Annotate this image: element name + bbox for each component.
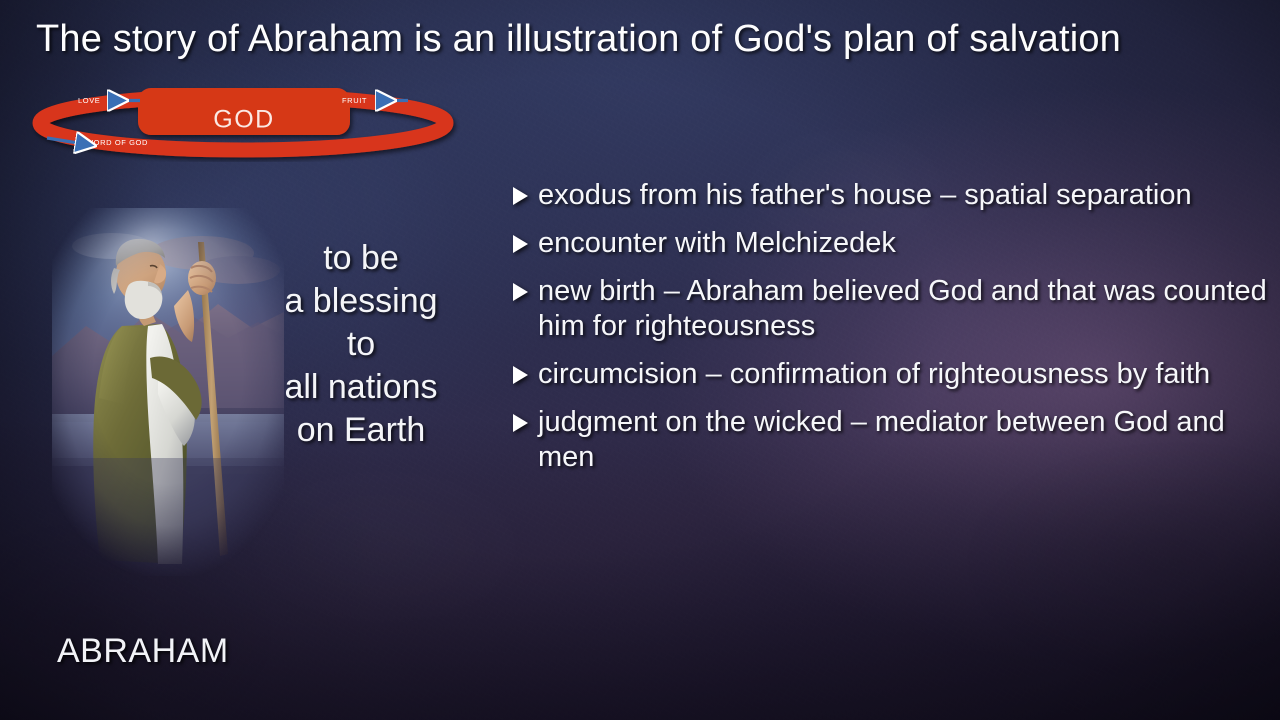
slide-caption: ABRAHAM [57,632,229,671]
bullet-text: encounter with Melchizedek [538,226,1268,261]
triangle-right-icon [513,235,528,253]
god-cycle-logo: GOD LOVE FRUIT WORD OF GOD [30,82,460,162]
blessing-line-4: all nations [262,366,460,409]
logo-fruit-label: FRUIT [342,96,367,105]
blessing-line-5: on Earth [262,409,460,452]
blessing-line-1: to be [262,237,460,280]
photo-haze [52,458,284,576]
triangle-right-icon [513,283,528,301]
triangle-right-icon [513,187,528,205]
photo-hand [188,261,216,295]
list-item: new birth – Abraham believed God and tha… [512,274,1268,344]
logo-love-label: LOVE [78,96,100,105]
abraham-image [52,208,284,576]
list-item: circumcision – confirmation of righteous… [512,357,1268,392]
blessing-line-3: to [262,323,460,366]
list-item: exodus from his father's house – spatial… [512,178,1268,213]
blessing-line-2: a blessing [262,280,460,323]
bullet-text: new birth – Abraham believed God and tha… [538,274,1268,344]
list-item: judgment on the wicked – mediator betwee… [512,405,1268,475]
logo-god-label: GOD [213,106,274,134]
bullet-text: circumcision – confirmation of righteous… [538,357,1268,392]
blessing-text-block: to be a blessing to all nations on Earth [262,237,460,452]
abraham-image-mask [52,208,284,576]
bullet-text: exodus from his father's house – spatial… [538,178,1268,213]
presentation-slide: The story of Abraham is an illustration … [0,0,1280,720]
logo-word-of-god-label: WORD OF GOD [86,138,148,147]
slide-title: The story of Abraham is an illustration … [36,18,1216,61]
triangle-right-icon [513,414,528,432]
list-item: encounter with Melchizedek [512,226,1268,261]
triangle-right-icon [513,366,528,384]
bullet-list: exodus from his father's house – spatial… [512,178,1268,488]
bullet-text: judgment on the wicked – mediator betwee… [538,405,1268,475]
